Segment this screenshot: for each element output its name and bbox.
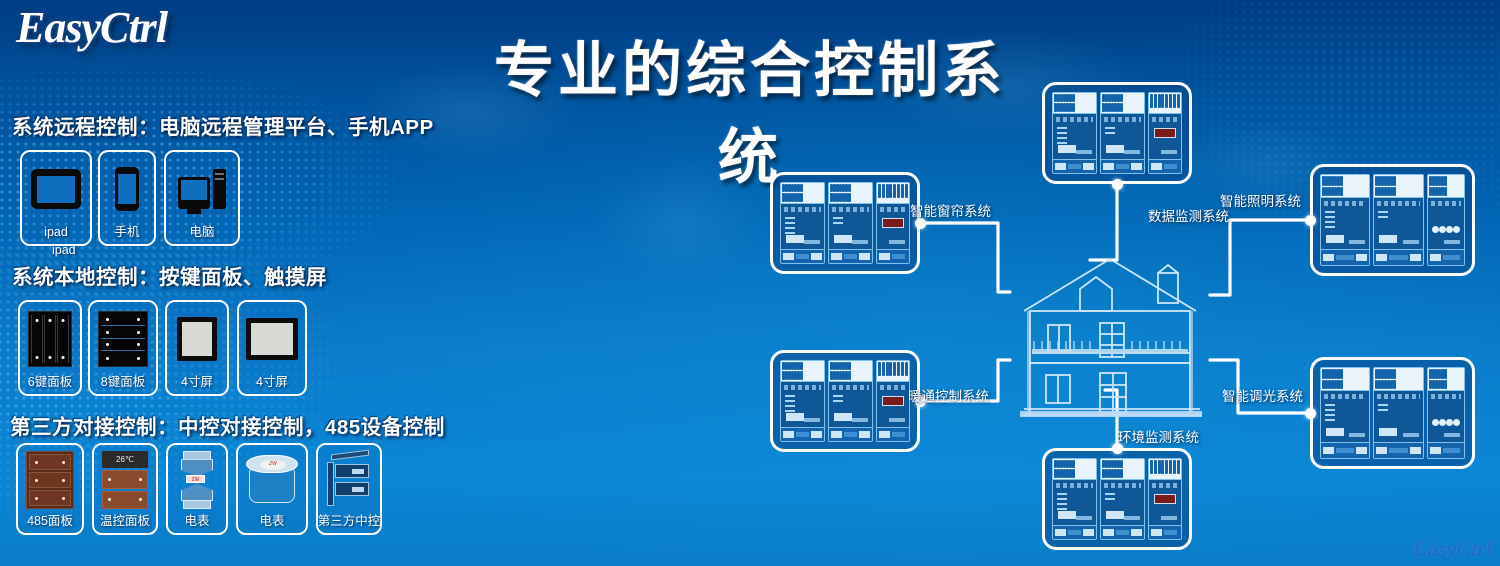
poster-canvas: EasyCtrl 专业的综合控制系统 系统远程控制：电脑远程管理平台、手机APP… xyxy=(0,0,1500,566)
diagram-label-curtain: 智能窗帘系统 xyxy=(910,200,991,220)
controller-module-environment[interactable] xyxy=(1042,448,1192,550)
device-card-eight-key-panel[interactable]: 8键面板 xyxy=(88,300,158,396)
thermostat-display-value: 26℃ xyxy=(102,451,148,468)
device-card-four-inch-screen-a[interactable]: 4寸屏 xyxy=(165,300,229,396)
device-card-label: 第三方中控 xyxy=(318,515,381,529)
electric-meter-icon: ZW xyxy=(168,445,226,515)
device-card-ipad[interactable]: ipad xyxy=(20,150,92,246)
controller-module-dimming[interactable] xyxy=(1310,357,1475,469)
third-party-central-control-icon xyxy=(318,445,380,515)
thermostat-panel-icon: 26℃ xyxy=(94,445,156,515)
controller-module-hvac[interactable] xyxy=(770,350,920,452)
device-card-label: 485面板 xyxy=(27,515,73,529)
device-card-label: 8键面板 xyxy=(101,376,145,390)
device-card-sublabel-ipad: ipad xyxy=(52,243,76,257)
device-card-electric-meter-round[interactable]: 电表 xyxy=(236,443,308,535)
device-card-computer[interactable]: 电脑 xyxy=(164,150,240,246)
device-card-rs485-panel[interactable]: 485面板 xyxy=(16,443,84,535)
controller-module-data-monitor[interactable] xyxy=(1042,82,1192,184)
device-card-label: 电脑 xyxy=(189,226,214,240)
device-card-six-key-panel[interactable]: 6键面板 xyxy=(18,300,82,396)
diagram-label-environment: 环境监测系统 xyxy=(1118,426,1199,446)
device-card-phone[interactable]: 手机 xyxy=(98,150,156,246)
tablet-icon xyxy=(22,152,90,226)
four-inch-screen-icon xyxy=(239,302,305,376)
device-card-thermostat-panel[interactable]: 26℃ 温控面板 xyxy=(92,443,158,535)
device-card-label: 6键面板 xyxy=(28,376,72,390)
device-card-label: 电表 xyxy=(184,515,209,529)
device-card-label: 电表 xyxy=(259,515,284,529)
diagram-label-data-monitor: 数据监测系统 xyxy=(1148,205,1229,225)
device-card-electric-meter-din[interactable]: ZW 电表 xyxy=(166,443,228,535)
brand-logo: EasyCtrl xyxy=(16,2,167,53)
villa-house-illustration xyxy=(1010,245,1210,425)
section-heading-remote-control: 系统远程控制：电脑远程管理平台、手机APP xyxy=(12,110,434,140)
system-topology-diagram: 智能窗帘系统 数据监测系统 智能照明系统 暖通控制系统 环境监测系统 智能调光系… xyxy=(760,60,1500,566)
brand-watermark: EasyCtrl xyxy=(1413,536,1492,562)
round-electric-meter-icon xyxy=(238,445,306,515)
section-heading-local-control: 系统本地控制：按键面板、触摸屏 xyxy=(12,260,327,290)
device-card-four-inch-screen-b[interactable]: 4寸屏 xyxy=(237,300,307,396)
connector-node-data xyxy=(1112,179,1123,190)
controller-module-lighting[interactable] xyxy=(1310,164,1475,276)
device-card-label: 4寸屏 xyxy=(256,376,288,390)
connector-node-dim xyxy=(1305,408,1316,419)
six-key-panel-icon xyxy=(20,302,80,376)
section-heading-third-party-control: 第三方对接控制：中控对接控制，485设备控制 xyxy=(10,410,445,440)
eight-key-panel-icon xyxy=(90,302,156,376)
four-inch-screen-icon xyxy=(167,302,227,376)
controller-module-curtain[interactable] xyxy=(770,172,920,274)
desktop-computer-icon xyxy=(166,152,238,226)
device-card-label: 4寸屏 xyxy=(181,376,213,390)
device-card-label: ipad xyxy=(44,226,68,240)
device-card-third-party-central-control[interactable]: 第三方中控 xyxy=(316,443,382,535)
device-card-label: 温控面板 xyxy=(100,515,150,529)
rs485-panel-icon xyxy=(18,445,82,515)
connector-node-light xyxy=(1305,215,1316,226)
diagram-label-hvac: 暖通控制系统 xyxy=(908,385,989,405)
diagram-label-lighting: 智能照明系统 xyxy=(1220,190,1301,210)
device-card-label: 手机 xyxy=(114,226,139,240)
smartphone-icon xyxy=(100,152,154,226)
diagram-label-dimming: 智能调光系统 xyxy=(1222,385,1303,405)
